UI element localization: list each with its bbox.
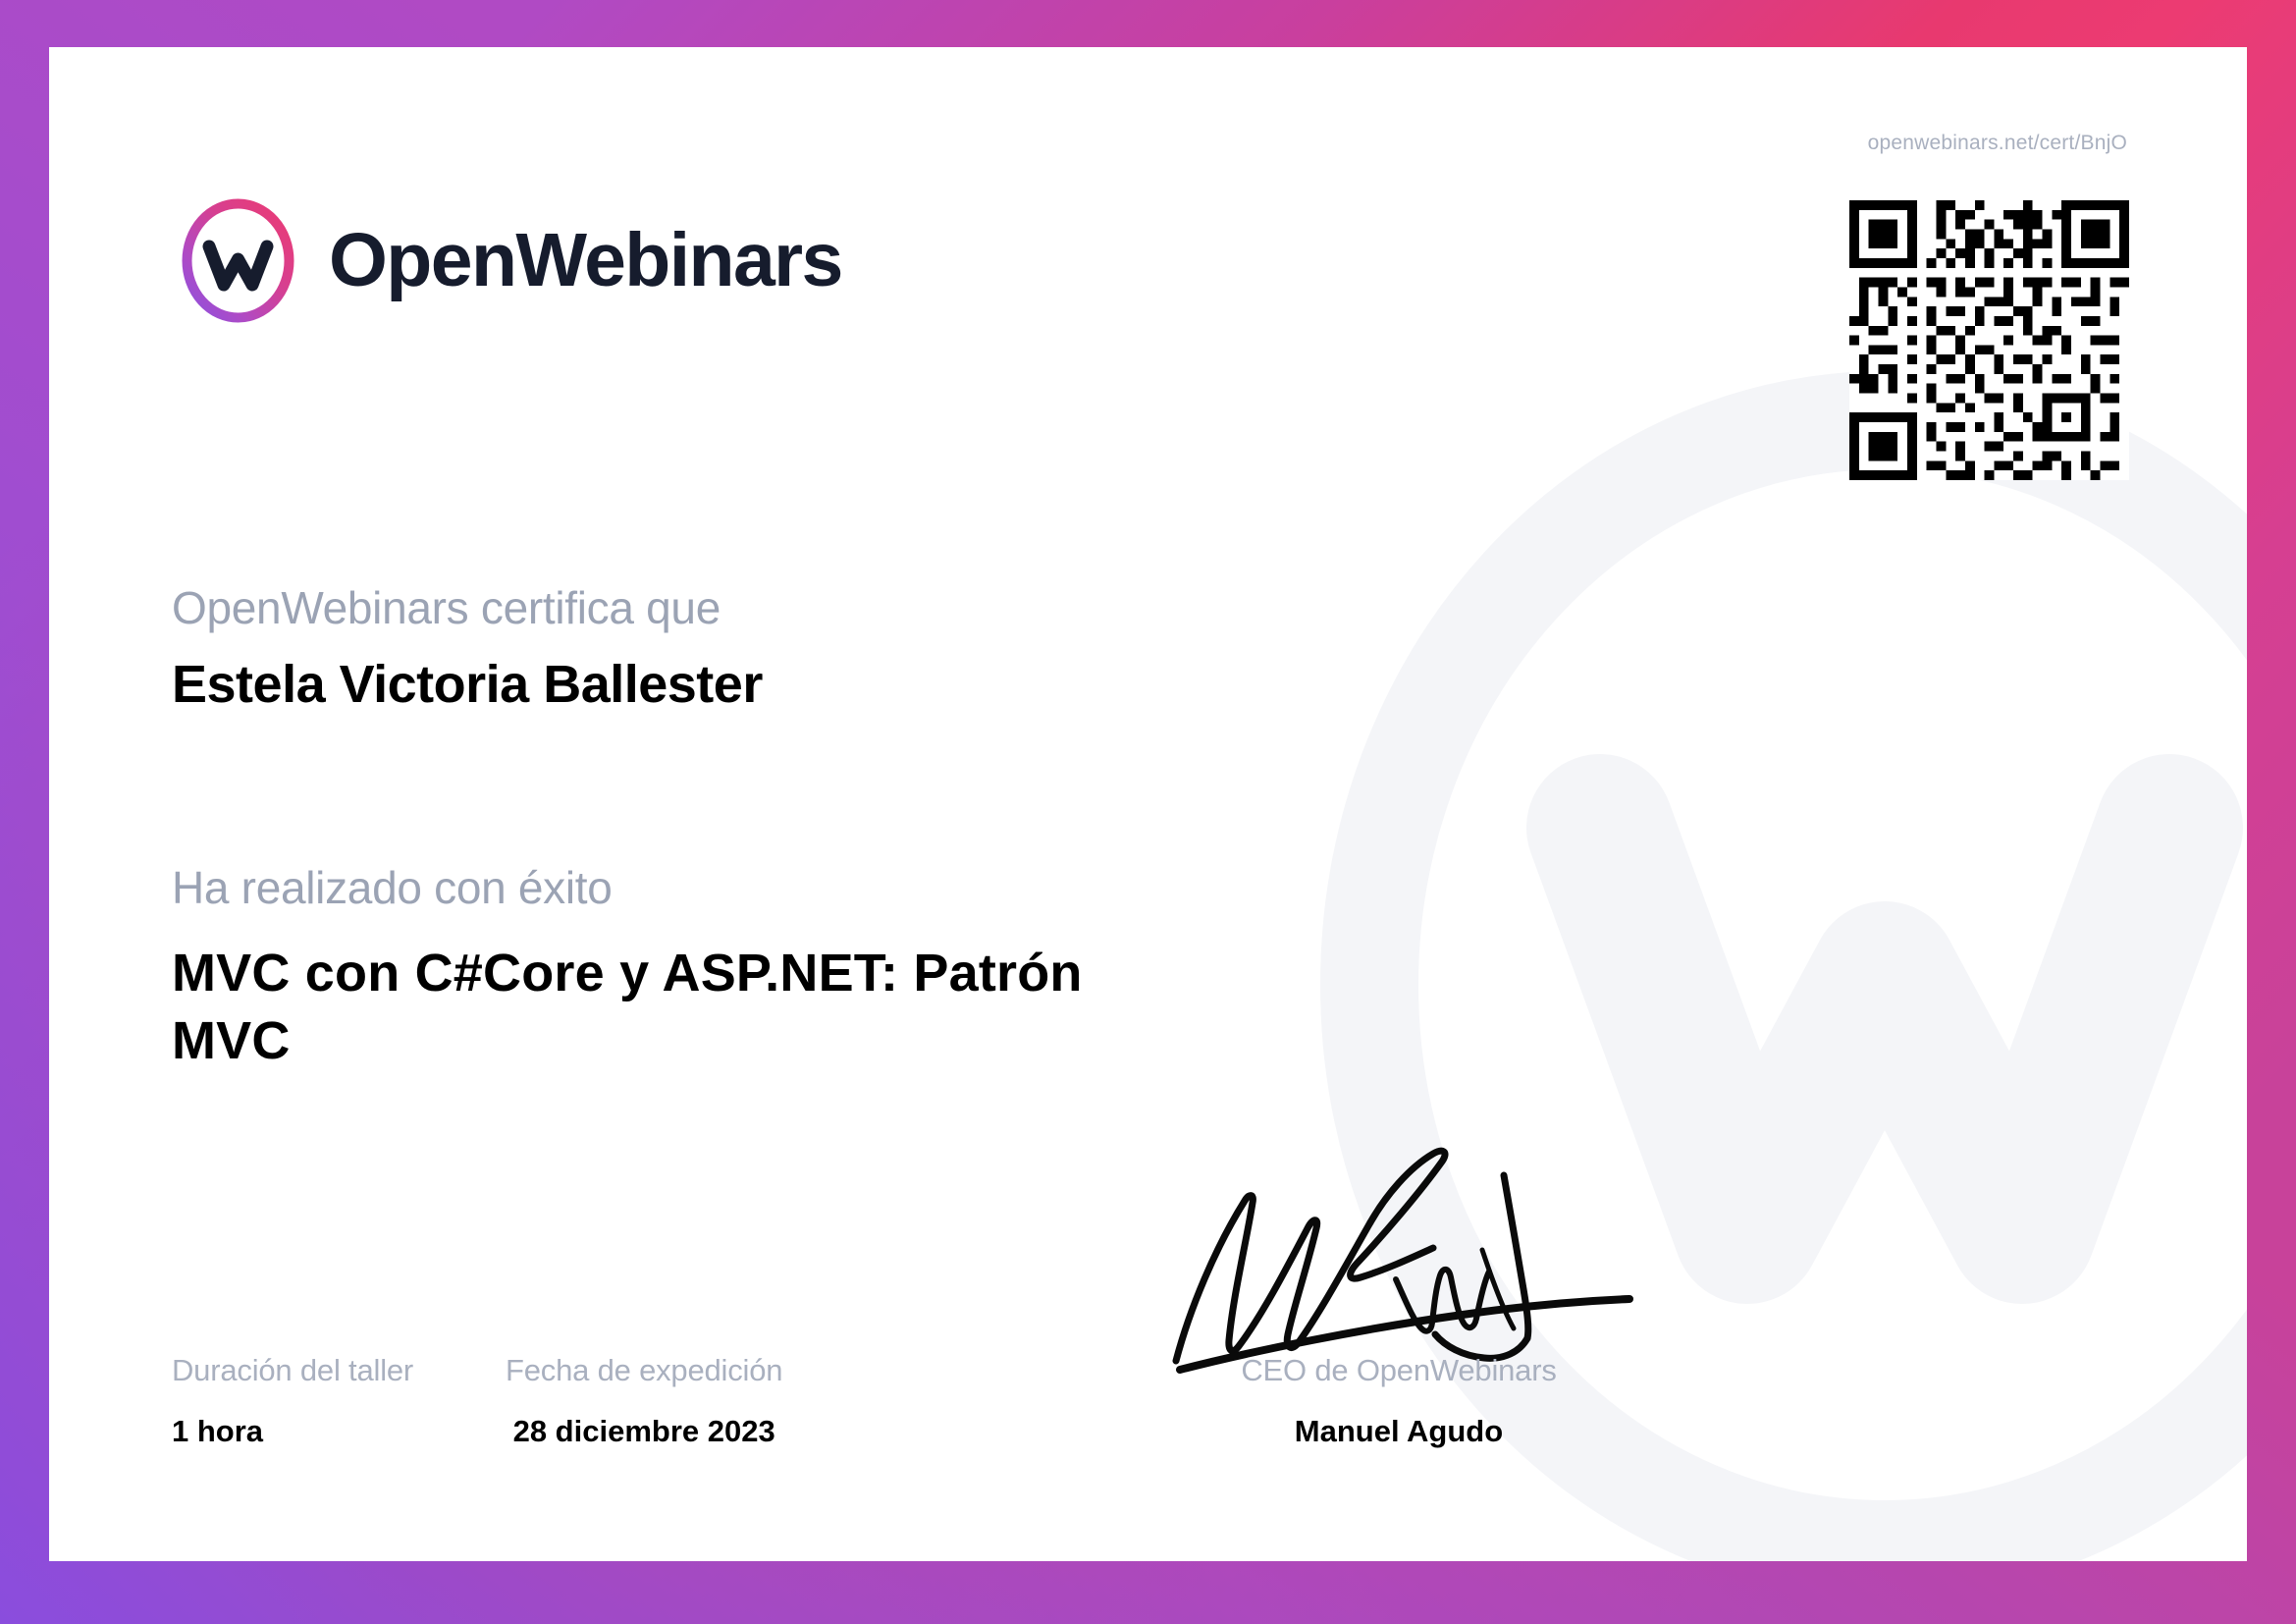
signer-group: CEO de OpenWebinars Manuel Agudo bbox=[1193, 1353, 1605, 1449]
brand-wordmark: OpenWebinars bbox=[329, 223, 842, 298]
issue-date-group: Fecha de expedición 28 diciembre 2023 bbox=[506, 1353, 782, 1449]
signer-name: Manuel Agudo bbox=[1193, 1414, 1605, 1449]
certificate-header: openwebinars.net/cert/BnjO bbox=[49, 47, 2247, 460]
course-title: MVC con C#Core y ASP.NET: Patrón MVC bbox=[172, 940, 1153, 1075]
openwebinars-logo-icon bbox=[172, 194, 304, 327]
qr-code[interactable] bbox=[1849, 200, 2129, 480]
certifies-label: OpenWebinars certifica que bbox=[172, 582, 763, 634]
duration-value: 1 hora bbox=[172, 1414, 413, 1449]
certificate-card: openwebinars.net/cert/BnjO bbox=[49, 47, 2247, 1561]
issue-date-value: 28 diciembre 2023 bbox=[506, 1414, 782, 1449]
certificate-footer: Duración del taller 1 hora Fecha de expe… bbox=[49, 1353, 2247, 1549]
issue-date-label: Fecha de expedición bbox=[506, 1353, 782, 1388]
signer-role: CEO de OpenWebinars bbox=[1193, 1353, 1605, 1388]
certificate-gradient-border: openwebinars.net/cert/BnjO bbox=[0, 0, 2296, 1624]
duration-group: Duración del taller 1 hora bbox=[172, 1353, 413, 1449]
brand-logo: OpenWebinars bbox=[172, 194, 842, 327]
signature-icon bbox=[1139, 1132, 1649, 1378]
achievement-label: Ha realizado con éxito bbox=[172, 862, 1153, 914]
recipient-name: Estela Victoria Ballester bbox=[172, 654, 763, 715]
achievement-section: Ha realizado con éxito MVC con C#Core y … bbox=[172, 862, 1153, 1075]
certifies-section: OpenWebinars certifica que Estela Victor… bbox=[172, 582, 763, 715]
verification-url: openwebinars.net/cert/BnjO bbox=[1868, 132, 2127, 155]
duration-label: Duración del taller bbox=[172, 1353, 413, 1388]
